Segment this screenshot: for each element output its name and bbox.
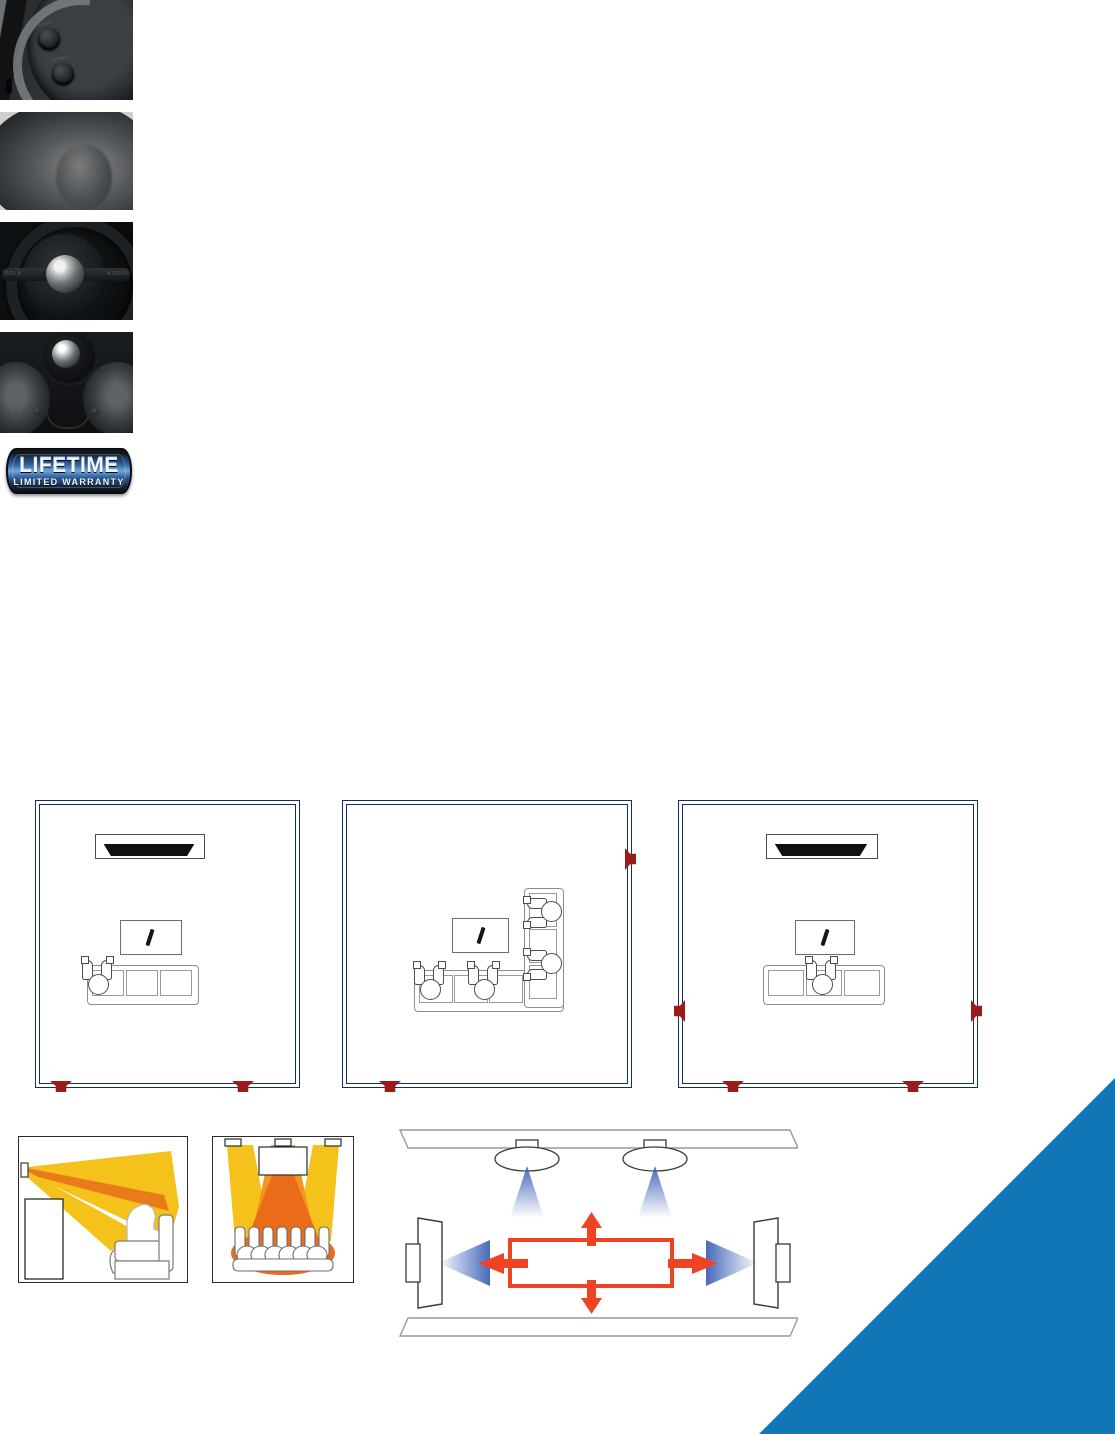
- speaker-placement-coverage-diagram: [398, 1122, 798, 1342]
- speaker-placement-svg: [398, 1122, 798, 1342]
- remote-control: [476, 927, 485, 944]
- dispersion-side-view-svg: [19, 1137, 187, 1282]
- listening-area-rect: [510, 1240, 672, 1286]
- seated-person-1: [414, 963, 446, 1003]
- corner-accent-triangle: [759, 1078, 1115, 1434]
- coffee-table: [795, 920, 855, 955]
- wall-speaker-left: [406, 1218, 490, 1308]
- lifetime-limited-warranty-badge: LIFETIME LIMITED WARRANTY: [6, 448, 132, 494]
- room-plan-four-speaker-surround: [678, 800, 978, 1088]
- coffee-table: [120, 920, 182, 955]
- dispersion-front-view-svg: [213, 1137, 353, 1282]
- ceiling-plane: [400, 1130, 798, 1148]
- seated-person-4: [525, 940, 557, 980]
- treble-knob: [52, 63, 74, 85]
- remote-control: [145, 929, 154, 946]
- coffee-table: [452, 918, 509, 953]
- badge-line-2: LIMITED WARRANTY: [6, 477, 132, 487]
- bass-treble-controls-photo: BASS TREBLE: [0, 0, 133, 100]
- projection-screen: [95, 834, 203, 860]
- ceiling-speaker-left: [495, 1140, 559, 1218]
- bass-knob: [38, 28, 60, 50]
- seated-person: [82, 958, 114, 998]
- room-plan-angled-screen-sectional: [342, 800, 632, 1088]
- seated-person: [806, 958, 838, 998]
- seated-person-2: [468, 963, 500, 1003]
- floor-plane: [400, 1318, 798, 1336]
- room-plan-two-front-speakers: [35, 800, 300, 1088]
- brand-label-left: POLK: [5, 271, 22, 277]
- remote-control: [820, 929, 829, 946]
- wall-speaker-right: [706, 1218, 790, 1308]
- projection-screen: [766, 834, 876, 860]
- woofer-cone-photo: [0, 112, 133, 210]
- dispersion-side-view: [18, 1136, 188, 1283]
- dual-woofer-tweeter-photo: [0, 332, 133, 433]
- badge-line-1: LIFETIME: [6, 454, 132, 478]
- dispersion-front-view: [212, 1136, 354, 1283]
- ceiling-speaker-right: [623, 1140, 687, 1218]
- seated-person-3: [525, 888, 557, 928]
- brand-label-right: AUDIO: [107, 271, 128, 277]
- tweeter-closeup-photo: POLK AUDIO: [0, 222, 133, 320]
